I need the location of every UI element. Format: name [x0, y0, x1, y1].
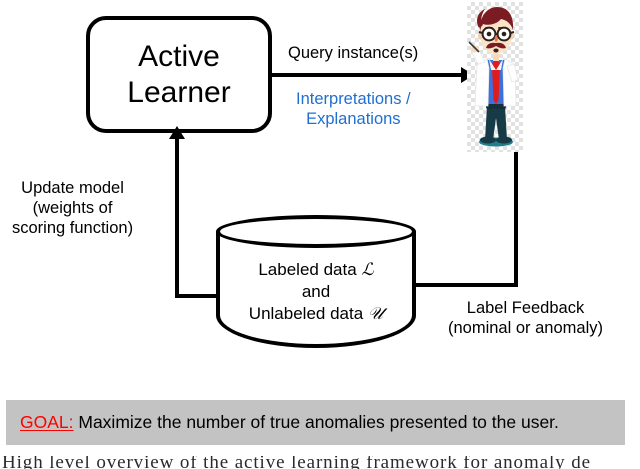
update-line3: scoring function)	[12, 218, 133, 238]
feedback-connector-vertical	[514, 152, 518, 287]
arrow-datastore-to-learner	[169, 126, 185, 139]
query-instances-label: Query instance(s)	[288, 43, 418, 63]
interpretations-explanations-label: Interpretations / Explanations	[296, 89, 411, 129]
goal-banner: GOAL: Maximize the number of true anomal…	[6, 400, 625, 445]
update-line2: (weights of	[12, 198, 133, 218]
goal-keyword: GOAL:	[20, 412, 74, 432]
update-line1: Update model	[12, 178, 133, 198]
arrow-learner-to-user	[272, 73, 462, 77]
and-line: and	[216, 281, 416, 302]
user-illustration	[467, 2, 523, 152]
goal-text: GOAL: Maximize the number of true anomal…	[6, 412, 559, 433]
unlabeled-data-symbol: 𝒰	[368, 304, 383, 324]
label-feedback-label: Label Feedback (nominal or anomaly)	[448, 298, 603, 338]
scientist-figure-icon	[467, 2, 523, 152]
figure-caption-text: High level overview of the active learni…	[2, 456, 591, 469]
goal-statement: Maximize the number of true anomalies pr…	[78, 412, 559, 432]
labeled-data-text: Labeled data	[258, 260, 361, 279]
datastore-labels: Labeled data ℒ and Unlabeled data 𝒰	[216, 259, 416, 325]
labeled-data-line: Labeled data ℒ	[216, 259, 416, 281]
unlabeled-data-text: Unlabeled data	[249, 304, 368, 323]
active-learner-label-line2: Learner	[127, 75, 230, 110]
update-model-label: Update model (weights of scoring functio…	[12, 178, 133, 238]
interpretations-line2: Explanations	[296, 109, 411, 129]
labeled-data-symbol: ℒ	[361, 260, 373, 280]
update-connector-vertical	[175, 137, 179, 298]
unlabeled-data-line: Unlabeled data 𝒰	[216, 303, 416, 325]
diagram-canvas: Active Learner Query instance(s) Interpr…	[0, 0, 640, 469]
active-learner-label-line1: Active	[138, 39, 220, 74]
interpretations-line1: Interpretations /	[296, 89, 411, 109]
datastore-cylinder: Labeled data ℒ and Unlabeled data 𝒰	[216, 215, 416, 348]
arrow-user-to-datastore	[415, 283, 518, 287]
feedback-line2: (nominal or anomaly)	[448, 318, 603, 338]
active-learner-node: Active Learner	[86, 16, 272, 133]
figure-caption-clipped: High level overview of the active learni…	[0, 456, 640, 469]
feedback-line1: Label Feedback	[448, 298, 603, 318]
cylinder-top-ellipse	[216, 215, 416, 248]
